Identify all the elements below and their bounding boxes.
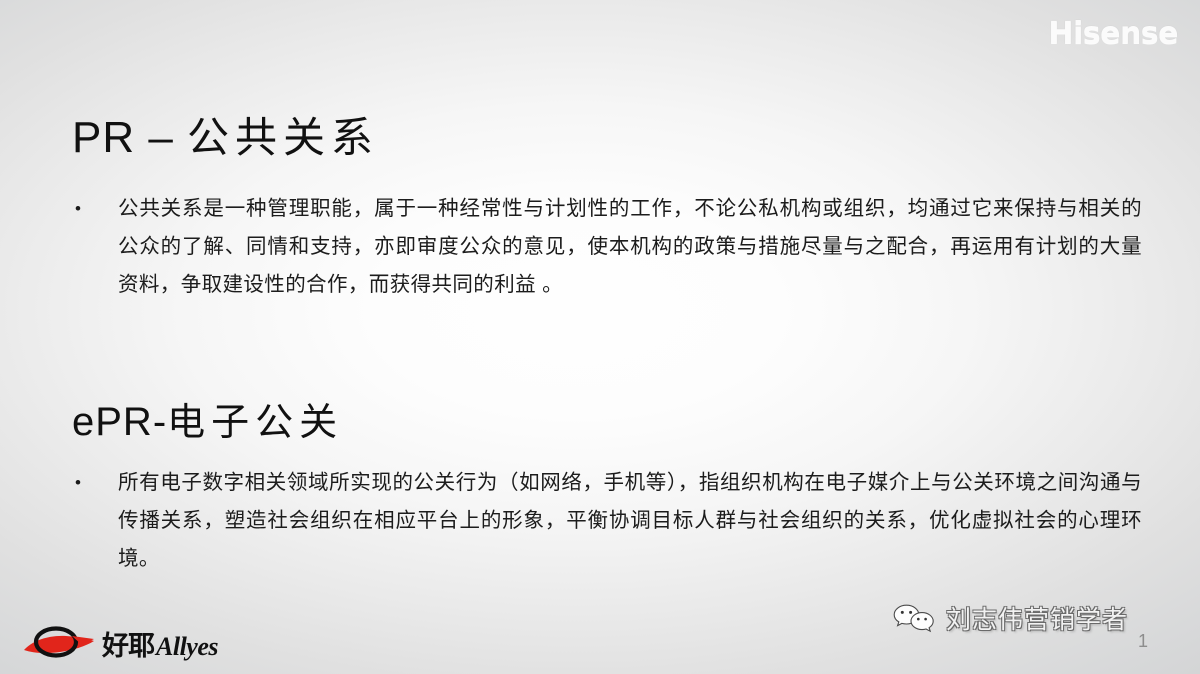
allyes-wordmark-latin: Allyes bbox=[156, 632, 218, 662]
allyes-logo: 好耶 Allyes bbox=[22, 618, 232, 666]
bullet-text-pr: 公共关系是一种管理职能，属于一种经常性与计划性的工作，不论公私机构或组织，均通过… bbox=[118, 190, 1142, 304]
page-title-pr: PR – 公共关系 bbox=[72, 104, 379, 165]
allyes-wordmark: 好耶 Allyes bbox=[102, 624, 218, 663]
wechat-credit: 刘志伟营销学者 bbox=[892, 600, 1128, 636]
wechat-icon bbox=[892, 603, 936, 633]
bullet-marker-icon: • bbox=[72, 190, 118, 228]
hisense-logo: Hisense bbox=[1048, 16, 1178, 51]
page-title-pr-latin: PR – bbox=[72, 113, 187, 162]
allyes-mark-icon bbox=[22, 624, 100, 660]
wechat-account-name: 刘志伟营销学者 bbox=[946, 600, 1128, 636]
slide-canvas: Hisense PR – 公共关系 • 公共关系是一种管理职能，属于一种经常性与… bbox=[0, 0, 1200, 674]
page-title-epr-cjk: 电子公关 bbox=[167, 402, 343, 444]
bullet-item-epr: • 所有电子数字相关领域所实现的公关行为（如网络，手机等），指组织机构在电子媒介… bbox=[72, 464, 1142, 578]
page-title-epr: ePR-电子公关 bbox=[72, 391, 343, 446]
page-title-pr-cjk: 公共关系 bbox=[187, 116, 379, 162]
allyes-wordmark-cjk: 好耶 bbox=[102, 624, 154, 663]
bullet-marker-icon: • bbox=[72, 464, 118, 502]
bullet-item-pr: • 公共关系是一种管理职能，属于一种经常性与计划性的工作，不论公私机构或组织，均… bbox=[72, 190, 1142, 304]
bullet-text-epr: 所有电子数字相关领域所实现的公关行为（如网络，手机等），指组织机构在电子媒介上与… bbox=[118, 464, 1142, 578]
page-title-epr-latin: ePR- bbox=[72, 400, 167, 444]
page-number: 1 bbox=[1138, 631, 1148, 652]
